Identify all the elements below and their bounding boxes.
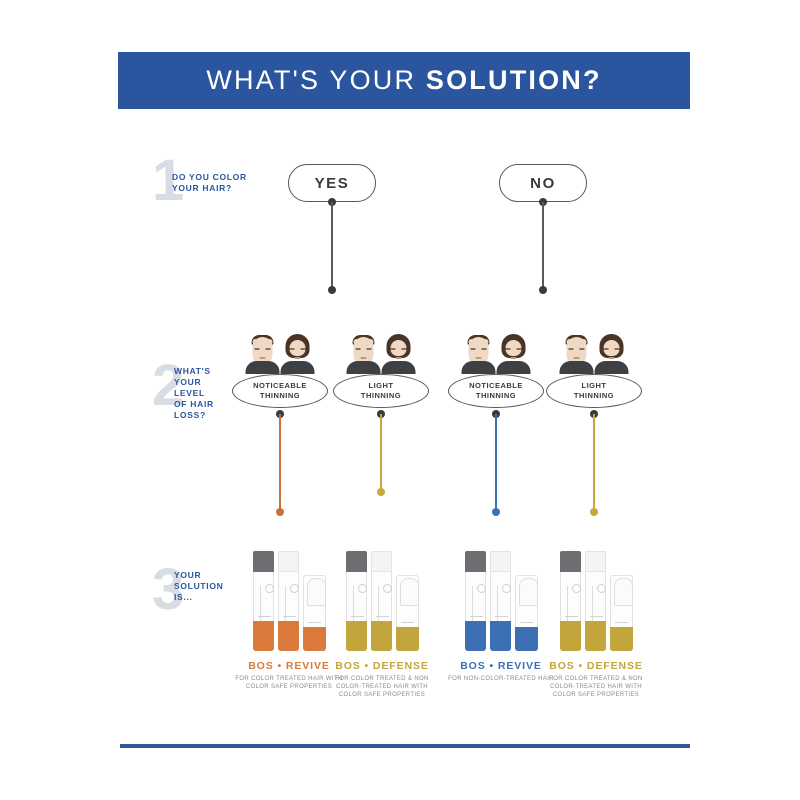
product-description-4: FOR COLOR TREATED & NON COLOR-TREATED HA… xyxy=(536,675,656,699)
thinning-pill-2-line-1: LIGHT xyxy=(369,381,394,391)
male-face-shape xyxy=(253,337,273,364)
step-1-question-line-1: DO YOU COLOR xyxy=(172,172,247,183)
bottle-cap xyxy=(253,551,274,572)
bottle-logo xyxy=(383,584,392,593)
bottle-pump xyxy=(519,578,538,606)
bottle-logo xyxy=(597,584,606,593)
bottle-label-text xyxy=(495,616,508,617)
step-1-question-line-2: YOUR HAIR? xyxy=(172,183,247,194)
step-2-question: WHAT'S YOUR LEVEL OF HAIR LOSS? xyxy=(174,366,214,421)
female-brow-left xyxy=(506,348,511,350)
connector-line-yes xyxy=(331,202,333,290)
bottle-label-text xyxy=(376,616,389,617)
bottle-cap xyxy=(346,551,367,572)
male-brow-left xyxy=(356,348,361,350)
connector-dot-level-4-bottom xyxy=(590,508,598,516)
bottle-base xyxy=(346,621,367,651)
bottle-base xyxy=(465,621,486,651)
male-mouth xyxy=(260,357,266,359)
male-mouth xyxy=(476,357,482,359)
connector-line-no xyxy=(542,202,544,290)
male-face-shape xyxy=(469,337,489,364)
female-shoulders xyxy=(595,361,629,374)
bottle-label-text xyxy=(308,622,321,623)
thinning-pill-1-line-2: THINNING xyxy=(260,391,300,401)
conditioner-bottle xyxy=(585,551,606,651)
shampoo-bottle xyxy=(465,551,486,651)
male-brow-left xyxy=(569,348,574,350)
male-head-icon xyxy=(347,330,381,374)
bottle-label-text xyxy=(258,616,271,617)
connector-line-level-2 xyxy=(380,414,382,492)
female-brow-right xyxy=(402,348,407,350)
shampoo-bottle xyxy=(253,551,274,651)
bottle-base xyxy=(490,621,511,651)
female-shoulders xyxy=(497,361,531,374)
connector-dot-level-2-bottom xyxy=(377,488,385,496)
bottle-cap xyxy=(278,551,299,572)
heads-illustration-3 xyxy=(462,330,531,374)
step-2-question-line-5: LOSS? xyxy=(174,410,214,421)
treatment-bottle xyxy=(610,575,633,651)
bottle-logo xyxy=(572,584,581,593)
male-brow-right xyxy=(580,348,585,350)
bottle-cap xyxy=(560,551,581,572)
product-group-4[interactable]: BOS • DEFENSE FOR COLOR TREATED & NON CO… xyxy=(536,546,656,699)
bottle-label-text xyxy=(351,616,364,617)
male-head-icon xyxy=(560,330,594,374)
bottle-base xyxy=(371,621,392,651)
thinning-pill-2[interactable]: LIGHT THINNING xyxy=(333,374,429,408)
female-hair-shape xyxy=(600,334,624,358)
bottle-pump xyxy=(400,578,419,606)
female-brow-left xyxy=(290,348,295,350)
male-brow-right xyxy=(482,348,487,350)
bottle-label-text xyxy=(470,616,483,617)
male-shoulders xyxy=(560,361,594,374)
bottle-logo xyxy=(358,584,367,593)
female-brow-right xyxy=(301,348,306,350)
page-title: WHAT'S YOUR SOLUTION? xyxy=(206,65,601,96)
bottle-label-text xyxy=(520,622,533,623)
product-group-2[interactable]: BOS • DEFENSE FOR COLOR TREATED & NON CO… xyxy=(322,546,442,699)
bottom-divider xyxy=(120,744,690,748)
heads-illustration-1 xyxy=(246,330,315,374)
bottle-cap xyxy=(585,551,606,572)
bottle-logo xyxy=(502,584,511,593)
female-hair-shape xyxy=(502,334,526,358)
bottle-base xyxy=(560,621,581,651)
bottle-cap xyxy=(490,551,511,572)
step-1-question: DO YOU COLOR YOUR HAIR? xyxy=(172,172,247,194)
product-name-4: BOS • DEFENSE xyxy=(536,660,656,672)
male-shoulders xyxy=(462,361,496,374)
thinning-pill-1-line-1: NOTICEABLE xyxy=(253,381,307,391)
connector-line-level-3 xyxy=(495,414,497,512)
thinning-pill-3-line-1: NOTICEABLE xyxy=(469,381,523,391)
product-name-2: BOS • DEFENSE xyxy=(322,660,442,672)
male-mouth xyxy=(361,357,367,359)
answer-pill-no[interactable]: NO xyxy=(499,164,587,202)
male-brow-right xyxy=(367,348,372,350)
female-brow-right xyxy=(517,348,522,350)
female-mouth xyxy=(295,357,301,359)
header-banner: WHAT'S YOUR SOLUTION? xyxy=(118,52,690,109)
male-brow-left xyxy=(471,348,476,350)
bottle-cap xyxy=(465,551,486,572)
bottle-label-text xyxy=(565,616,578,617)
bottle-pump xyxy=(614,578,633,606)
connector-line-level-4 xyxy=(593,414,595,512)
treatment-bottle xyxy=(396,575,419,651)
bottle-label-text xyxy=(590,616,603,617)
step-3-label-line-2: SOLUTION xyxy=(174,581,224,592)
bottle-logo xyxy=(477,584,486,593)
answer-pill-yes-label: YES xyxy=(315,175,350,192)
bottle-label-text xyxy=(401,622,414,623)
conditioner-bottle xyxy=(371,551,392,651)
step-2-question-line-3: LEVEL xyxy=(174,388,214,399)
shampoo-bottle xyxy=(560,551,581,651)
female-brow-right xyxy=(615,348,620,350)
thinning-pill-4-line-1: LIGHT xyxy=(582,381,607,391)
male-shoulders xyxy=(246,361,280,374)
connector-dot-level-3-bottom xyxy=(492,508,500,516)
male-head-icon xyxy=(462,330,496,374)
male-face-shape xyxy=(354,337,374,364)
thinning-pill-3-line-2: THINNING xyxy=(476,391,516,401)
female-head-icon xyxy=(497,330,531,374)
female-shoulders xyxy=(382,361,416,374)
conditioner-bottle xyxy=(490,551,511,651)
male-brow-left xyxy=(255,348,260,350)
heads-illustration-2 xyxy=(347,330,416,374)
bottle-cap xyxy=(371,551,392,572)
female-shoulders xyxy=(281,361,315,374)
male-mouth xyxy=(574,357,580,359)
female-head-icon xyxy=(382,330,416,374)
female-brow-left xyxy=(391,348,396,350)
infographic-canvas: WHAT'S YOUR SOLUTION? 1 DO YOU COLOR YOU… xyxy=(0,0,800,800)
thinning-pill-3[interactable]: NOTICEABLE THINNING xyxy=(448,374,544,408)
bottle-logo xyxy=(290,584,299,593)
male-head-icon xyxy=(246,330,280,374)
bottle-label-text xyxy=(283,616,296,617)
answer-pill-no-label: NO xyxy=(530,175,556,192)
connector-line-level-1 xyxy=(279,414,281,512)
bottle-base xyxy=(253,621,274,651)
heads-illustration-4 xyxy=(560,330,629,374)
product-bottles-4 xyxy=(536,546,656,651)
male-face-shape xyxy=(567,337,587,364)
female-mouth xyxy=(511,357,517,359)
female-head-icon xyxy=(281,330,315,374)
answer-pill-yes[interactable]: YES xyxy=(288,164,376,202)
step-2-question-line-2: YOUR xyxy=(174,377,214,388)
connector-dot-level-1-bottom xyxy=(276,508,284,516)
connector-dot-no-bottom xyxy=(539,286,547,294)
step-3-label-line-1: YOUR xyxy=(174,570,224,581)
male-brow-right xyxy=(266,348,271,350)
thinning-pill-4[interactable]: LIGHT THINNING xyxy=(546,374,642,408)
step-3-label: YOUR SOLUTION IS... xyxy=(174,570,224,603)
thinning-pill-4-line-2: THINNING xyxy=(574,391,614,401)
bottle-logo xyxy=(265,584,274,593)
shampoo-bottle xyxy=(346,551,367,651)
step-2-question-line-1: WHAT'S xyxy=(174,366,214,377)
female-brow-left xyxy=(604,348,609,350)
step-1-block: 1 DO YOU COLOR YOUR HAIR? xyxy=(152,152,282,212)
connector-dot-yes-bottom xyxy=(328,286,336,294)
bottle-base xyxy=(396,627,419,651)
thinning-pill-1[interactable]: NOTICEABLE THINNING xyxy=(232,374,328,408)
step-3-label-line-3: IS... xyxy=(174,592,224,603)
product-description-2: FOR COLOR TREATED & NON COLOR-TREATED HA… xyxy=(322,675,442,699)
bottle-base xyxy=(585,621,606,651)
treatment-bottle xyxy=(515,575,538,651)
female-mouth xyxy=(609,357,615,359)
female-mouth xyxy=(396,357,402,359)
step-2-question-line-4: OF HAIR xyxy=(174,399,214,410)
female-head-icon xyxy=(595,330,629,374)
conditioner-bottle xyxy=(278,551,299,651)
page-title-bold: SOLUTION? xyxy=(426,65,602,95)
product-bottles-2 xyxy=(322,546,442,651)
bottle-label-text xyxy=(615,622,628,623)
page-title-normal: WHAT'S YOUR xyxy=(206,65,426,95)
bottle-base xyxy=(515,627,538,651)
bottle-base xyxy=(278,621,299,651)
female-hair-shape xyxy=(387,334,411,358)
male-shoulders xyxy=(347,361,381,374)
female-hair-shape xyxy=(286,334,310,358)
thinning-pill-2-line-2: THINNING xyxy=(361,391,401,401)
bottle-base xyxy=(610,627,633,651)
